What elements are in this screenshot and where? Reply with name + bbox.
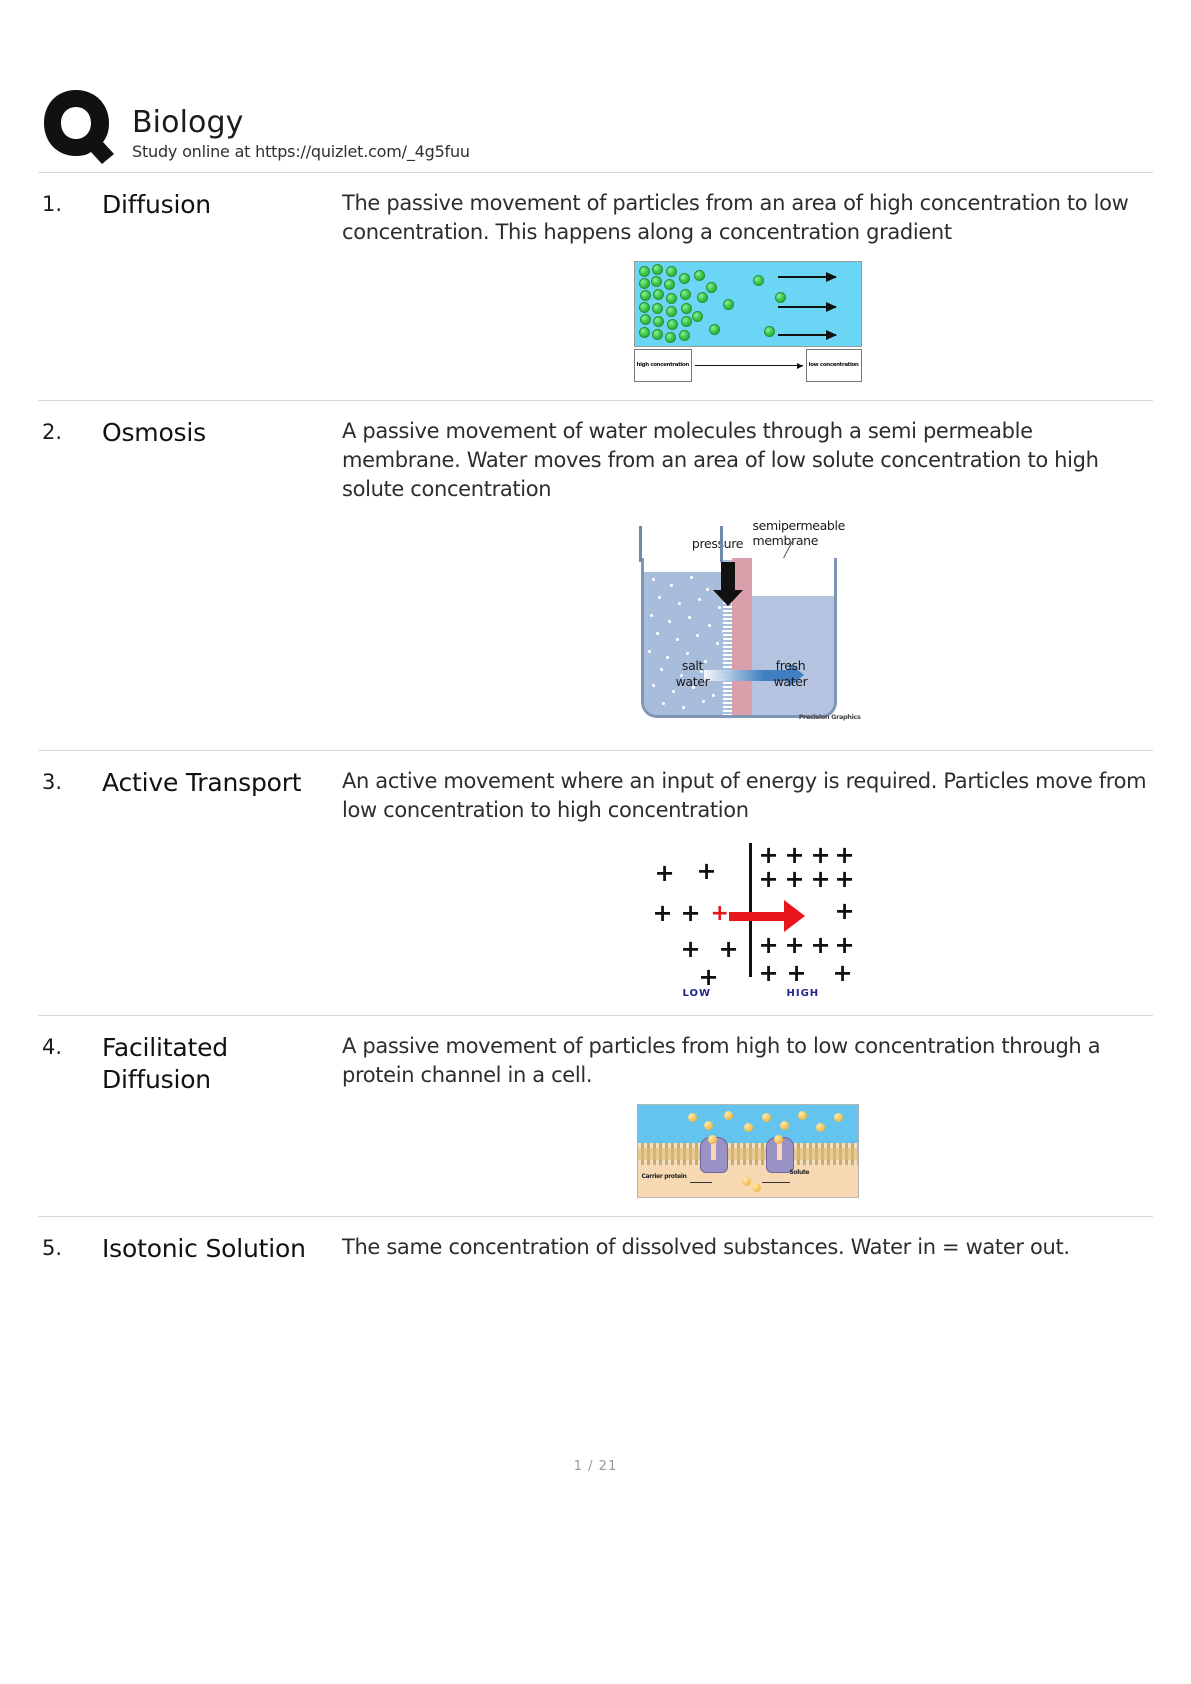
particle-icon: +	[811, 869, 831, 889]
beaker-shape: salt water fresh water	[641, 558, 837, 718]
diffusion-caption: high concentration low concentration	[634, 349, 862, 382]
term-definition-cell: An active movement where an input of ene…	[342, 767, 1153, 997]
salt-water-label-line1: salt	[658, 658, 728, 673]
solute-particle-icon	[688, 1113, 697, 1122]
particle-icon: +	[759, 845, 779, 865]
particle-icon: +	[835, 901, 855, 921]
particle-icon: +	[681, 939, 701, 959]
pressure-arrow-icon	[721, 562, 735, 592]
solute-particle-icon	[774, 1135, 783, 1144]
solute-label: Solute	[790, 1158, 810, 1187]
solute-leader-line-icon	[762, 1182, 790, 1183]
facilitated-diffusion-diagram: Carrier protein Solute	[637, 1104, 859, 1198]
solute-particle-icon	[724, 1111, 733, 1120]
study-online-link[interactable]: Study online at https://quizlet.com/_4g5…	[132, 142, 470, 162]
salt-water-label-line2: water	[658, 674, 728, 689]
term-title: Diffusion	[102, 189, 342, 221]
solute-particle-icon	[704, 1121, 713, 1130]
active-transport-diagram: + + + + + + + + + + + + + +	[641, 839, 855, 997]
particle-icon: +	[835, 845, 855, 865]
particle-icon: +	[811, 845, 831, 865]
osmosis-diagram: pressure semipermeable membrane	[633, 510, 863, 732]
term-row: 1. Diffusion The passive movement of par…	[38, 173, 1153, 401]
definition-text: An active movement where an input of ene…	[342, 767, 1153, 825]
particle-icon: +	[681, 903, 701, 923]
document-header: Biology Study online at https://quizlet.…	[38, 0, 1153, 173]
particle-icon: +	[655, 863, 675, 883]
solute-particle-icon	[816, 1123, 825, 1132]
carrier-leader-line-icon	[690, 1182, 712, 1183]
term-number: 5.	[38, 1233, 102, 1263]
left-tube-shape	[639, 526, 723, 562]
particle-icon: +	[785, 869, 805, 889]
figure-container: + + + + + + + + + + + + + +	[342, 825, 1153, 997]
term-row: 2. Osmosis A passive movement of water m…	[38, 401, 1153, 751]
term-number: 1.	[38, 189, 102, 219]
page-number: 1 / 21	[0, 1459, 1191, 1474]
definition-text: The same concentration of dissolved subs…	[342, 1233, 1153, 1262]
low-concentration-label: LOW	[683, 979, 712, 1008]
solute-particle-icon	[780, 1121, 789, 1130]
definition-text: A passive movement of particles from hig…	[342, 1032, 1153, 1090]
diffusion-diagram	[634, 261, 862, 347]
semipermeable-membrane-shape	[732, 558, 752, 715]
solute-particle-icon	[752, 1183, 761, 1192]
term-row: 5. Isotonic Solution The same concentrat…	[38, 1217, 1153, 1283]
high-concentration-label: HIGH	[787, 979, 820, 1008]
definition-text: A passive movement of water molecules th…	[342, 417, 1153, 504]
transported-particle-icon: +	[711, 905, 729, 923]
solute-particle-icon	[744, 1123, 753, 1132]
particle-icon: +	[759, 963, 779, 983]
membrane-divider-icon	[749, 843, 752, 977]
fresh-water-region	[746, 596, 834, 715]
carrier-protein-label: Carrier protein	[642, 1162, 687, 1191]
low-concentration-label: low concentration	[806, 349, 862, 382]
term-number: 4.	[38, 1032, 102, 1062]
semipermeable-label-line2: membrane	[753, 533, 869, 548]
particle-icon: +	[759, 935, 779, 955]
term-title: Facilitated Diffusion	[102, 1032, 342, 1096]
term-definition-cell: A passive movement of particles from hig…	[342, 1032, 1153, 1198]
figure-container: Carrier protein Solute	[342, 1090, 1153, 1198]
particle-icon: +	[653, 903, 673, 923]
particle-icon: +	[759, 869, 779, 889]
page-title: Biology	[132, 106, 470, 140]
term-title: Osmosis	[102, 417, 342, 449]
particle-icon: +	[785, 845, 805, 865]
term-number: 3.	[38, 767, 102, 797]
particle-icon: +	[835, 869, 855, 889]
particle-icon: +	[835, 935, 855, 955]
particle-icon: +	[833, 963, 853, 983]
fresh-water-label-line2: water	[756, 674, 826, 689]
solute-particle-icon	[834, 1113, 843, 1122]
figure-container: pressure semipermeable membrane	[342, 504, 1153, 732]
term-number: 2.	[38, 417, 102, 447]
solute-particle-icon	[798, 1111, 807, 1120]
particle-icon: +	[785, 935, 805, 955]
term-title: Isotonic Solution	[102, 1233, 342, 1265]
solute-particle-icon	[708, 1135, 717, 1144]
fresh-water-label-line1: fresh	[756, 658, 826, 673]
particle-icon: +	[811, 935, 831, 955]
particle-icon: +	[697, 861, 717, 881]
term-definition-cell: The passive movement of particles from a…	[342, 189, 1153, 382]
concentration-gradient-arrow-icon	[695, 365, 803, 366]
term-definition-cell: The same concentration of dissolved subs…	[342, 1233, 1153, 1262]
term-definition-cell: A passive movement of water molecules th…	[342, 417, 1153, 732]
particle-icon: +	[719, 939, 739, 959]
image-credit: Precision Graphics	[799, 703, 861, 732]
term-row: 4. Facilitated Diffusion A passive movem…	[38, 1016, 1153, 1217]
quizlet-q-logo-icon	[40, 86, 122, 164]
term-row: 3. Active Transport An active movement w…	[38, 751, 1153, 1016]
term-title: Active Transport	[102, 767, 342, 799]
definition-text: The passive movement of particles from a…	[342, 189, 1153, 247]
document-page: Biology Study online at https://quizlet.…	[0, 0, 1191, 1684]
high-concentration-label: high concentration	[634, 349, 692, 382]
solute-particle-icon	[762, 1113, 771, 1122]
solute-particle-icon	[742, 1177, 751, 1186]
header-text-block: Biology Study online at https://quizlet.…	[132, 106, 470, 164]
active-transport-arrow-icon	[729, 912, 785, 921]
semipermeable-label-line1: semipermeable	[753, 518, 869, 533]
figure-container: high concentration low concentration	[342, 247, 1153, 382]
